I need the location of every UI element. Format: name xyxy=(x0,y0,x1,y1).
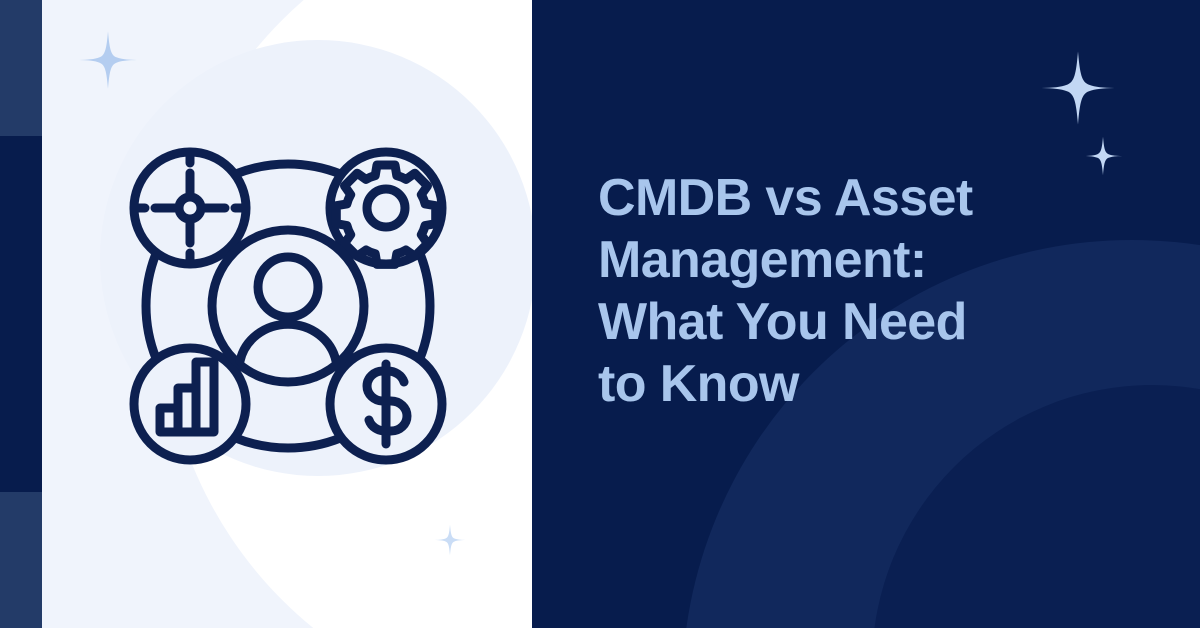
sparkle-star-left-top xyxy=(78,30,138,90)
share-card-canvas: CMDB vs Asset Management: What You Need … xyxy=(0,0,1200,628)
hero-title-block: CMDB vs Asset Management: What You Need … xyxy=(598,168,1068,416)
sparkle-star-right-large xyxy=(1040,50,1116,126)
page-title: CMDB vs Asset Management: What You Need … xyxy=(598,168,1068,416)
sparkle-star-right-small xyxy=(1083,136,1123,176)
sparkle-star-left-bottom xyxy=(434,524,466,556)
left-edge-strip-middle xyxy=(0,136,42,492)
asset-management-illustration xyxy=(128,146,448,466)
